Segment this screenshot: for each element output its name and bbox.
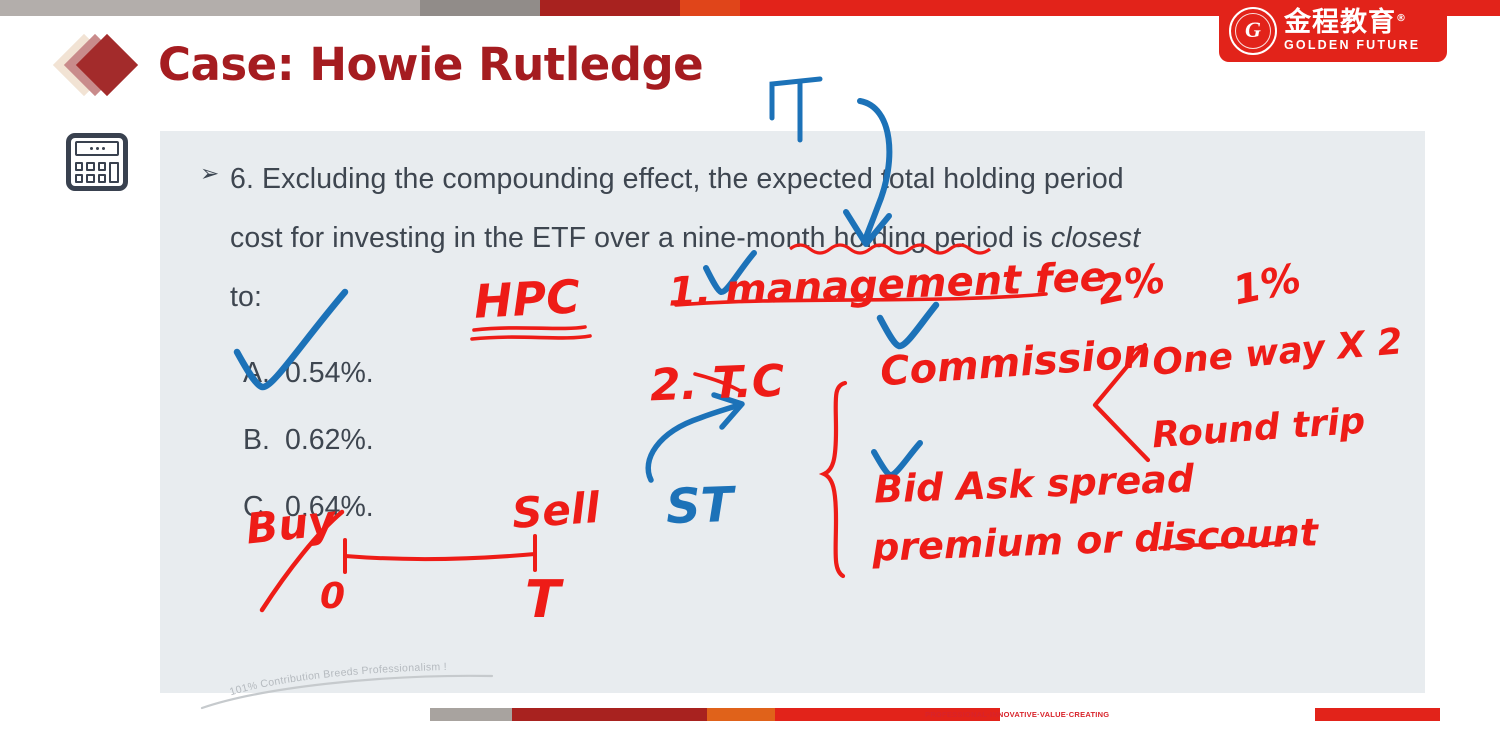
question-line-2: cost for investing in the ETF over a nin… [230, 209, 1415, 268]
title-diamond-icon [62, 33, 140, 97]
brand-logo: G 金程教育® GOLDEN FUTURE [1219, 0, 1447, 62]
question-line-1: 6. Excluding the compounding effect, the… [230, 150, 1415, 209]
ink-lt-bracket [772, 79, 820, 118]
option-b-value: 0.62%. [285, 424, 374, 456]
footer-segment [512, 708, 707, 721]
footer-tagline: PROFESSIONAL·INNOVATIVE·VALUE·CREATING [925, 709, 1109, 720]
calculator-enter-key [109, 162, 119, 183]
logo-chinese-name: 金程教育® [1284, 9, 1420, 37]
question-line-2-text: cost for investing in the ETF over a nin… [230, 222, 1051, 254]
topbar-segment [540, 0, 680, 16]
svg-text:101% Contribution Breeds Profe: 101% Contribution Breeds Professionalism… [228, 661, 447, 698]
option-b[interactable]: B.0.62%. [243, 407, 374, 474]
topbar-segment [680, 0, 740, 16]
footer-segment [707, 708, 775, 721]
option-c-value: 0.64%. [285, 491, 374, 523]
calculator-keys [75, 162, 106, 183]
option-a[interactable]: A.0.54%. [243, 340, 374, 407]
option-b-letter: B. [243, 407, 285, 474]
logo-text-block: 金程教育® GOLDEN FUTURE [1284, 9, 1420, 53]
option-c[interactable]: C.0.64%. [243, 474, 374, 541]
bullet-marker: ➢ [200, 163, 226, 185]
calculator-screen [75, 141, 119, 156]
page-title: Case: Howie Rutledge [158, 38, 703, 91]
calculator-icon [66, 133, 128, 191]
question-line-3: to: [230, 268, 1415, 327]
topbar-segment [0, 0, 420, 16]
footer-segment [1315, 708, 1440, 721]
option-c-letter: C. [243, 474, 285, 541]
option-a-value: 0.54%. [285, 357, 374, 389]
logo-emblem-letter: G [1245, 19, 1261, 41]
registered-mark: ® [1396, 13, 1407, 24]
logo-chinese-text: 金程教育 [1284, 7, 1396, 38]
watermark-text-group: 101% Contribution Breeds Professionalism… [225, 660, 505, 705]
slide-canvas: G 金程教育® GOLDEN FUTURE Case: Howie Rutled… [0, 0, 1500, 750]
option-a-letter: A. [243, 340, 285, 407]
watermark-text: 101% Contribution Breeds Professionalism… [228, 661, 447, 698]
footer-segment [430, 708, 512, 721]
question-text: 6. Excluding the compounding effect, the… [230, 150, 1415, 327]
topbar-segment [420, 0, 540, 16]
logo-emblem-icon: G [1229, 7, 1277, 55]
answer-options: A.0.54%. B.0.62%. C.0.64%. [243, 340, 374, 541]
logo-english-name: GOLDEN FUTURE [1284, 38, 1420, 53]
question-emphasis: closest [1051, 222, 1140, 254]
